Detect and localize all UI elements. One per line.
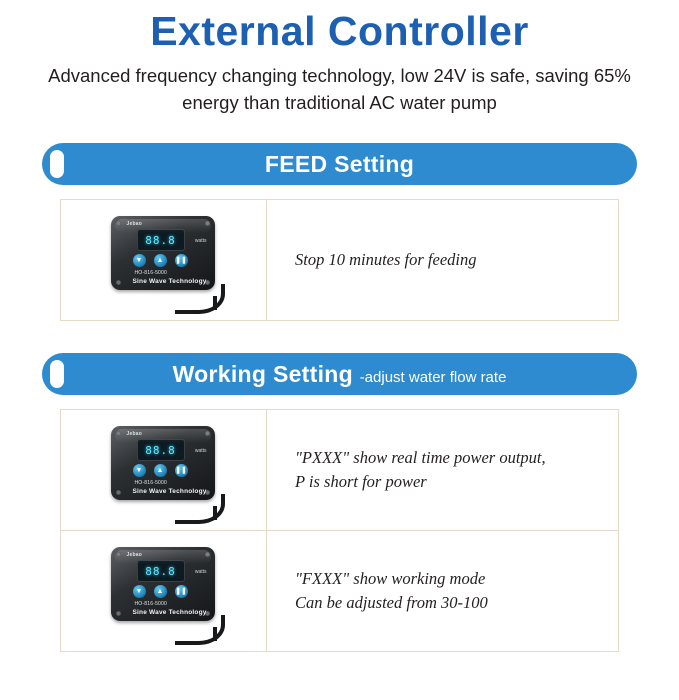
table-row: Jebao 88.8 watts ▼ ▲ ❚❚ HO-816-5000 Sine… (61, 200, 618, 321)
feed-settings-table: Jebao 88.8 watts ▼ ▲ ❚❚ HO-816-5000 Sine… (60, 199, 619, 321)
up-arrow-button-icon[interactable]: ▲ (154, 585, 167, 598)
power-cable (175, 494, 225, 524)
device-brand: Jebao (127, 221, 142, 227)
device-lcd-display: 88.8 (137, 229, 185, 251)
up-arrow-button-icon[interactable]: ▲ (154, 254, 167, 267)
lcd-value: 88.8 (145, 565, 176, 578)
page-subtitle: Advanced frequency changing technology, … (36, 62, 643, 116)
screw-icon (205, 552, 210, 557)
power-cable-end (213, 296, 217, 310)
table-row: Jebao 88.8 watts ▼ ▲ ❚❚ HO-816-5000 Sine… (61, 531, 618, 652)
device-model: HO-816-5000 (135, 270, 168, 276)
controller-image-cell: Jebao 88.8 watts ▼ ▲ ❚❚ HO-816-5000 Sine… (61, 531, 267, 651)
controller-image-cell: Jebao 88.8 watts ▼ ▲ ❚❚ HO-816-5000 Sine… (61, 200, 267, 320)
product-infographic: External Controller Advanced frequency c… (0, 6, 679, 700)
power-cable-end (213, 627, 217, 641)
down-arrow-button-icon[interactable]: ▼ (133, 585, 146, 598)
power-cable (175, 615, 225, 645)
section-banner-feed: FEED Setting (42, 143, 637, 185)
description-line: Stop 10 minutes for feeding (295, 250, 476, 269)
device-brand: Jebao (127, 552, 142, 558)
device-unit-label: watts (195, 448, 207, 454)
banner-cap-icon (50, 150, 64, 178)
screw-icon (116, 490, 121, 495)
power-cable-end (213, 506, 217, 520)
description-cell: "PXXX" show real time power output, P is… (267, 410, 618, 530)
down-arrow-button-icon[interactable]: ▼ (133, 254, 146, 267)
banner-title-feed: FEED Setting (265, 151, 414, 177)
description-cell: Stop 10 minutes for feeding (267, 200, 618, 320)
description-line: "FXXX" show working mode (295, 569, 485, 588)
screw-icon (116, 431, 121, 436)
page-title: External Controller (0, 6, 679, 56)
device-model: HO-816-5000 (135, 601, 168, 607)
controller-device-illustration: Jebao 88.8 watts ▼ ▲ ❚❚ HO-816-5000 Sine… (103, 543, 225, 639)
up-arrow-button-icon[interactable]: ▲ (154, 464, 167, 477)
banner-cap-icon (50, 360, 64, 388)
device-lcd-display: 88.8 (137, 560, 185, 582)
description-line: Can be adjusted from 30-100 (295, 593, 488, 612)
pause-button-icon[interactable]: ❚❚ (175, 254, 188, 267)
power-cable (175, 284, 225, 314)
device-model: HO-816-5000 (135, 480, 168, 486)
description-line: P is short for power (295, 472, 427, 491)
table-row: Jebao 88.8 watts ▼ ▲ ❚❚ HO-816-5000 Sine… (61, 410, 618, 531)
controller-image-cell: Jebao 88.8 watts ▼ ▲ ❚❚ HO-816-5000 Sine… (61, 410, 267, 530)
device-brand: Jebao (127, 431, 142, 437)
down-arrow-button-icon[interactable]: ▼ (133, 464, 146, 477)
screw-icon (116, 552, 121, 557)
controller-device-illustration: Jebao 88.8 watts ▼ ▲ ❚❚ HO-816-5000 Sine… (103, 422, 225, 518)
description-cell: "FXXX" show working mode Can be adjusted… (267, 531, 618, 651)
banner-title-working: Working Setting (173, 361, 353, 387)
screw-icon (205, 431, 210, 436)
lcd-value: 88.8 (145, 444, 176, 457)
device-lcd-display: 88.8 (137, 439, 185, 461)
pause-button-icon[interactable]: ❚❚ (175, 585, 188, 598)
working-settings-table: Jebao 88.8 watts ▼ ▲ ❚❚ HO-816-5000 Sine… (60, 409, 619, 652)
lcd-value: 88.8 (145, 234, 176, 247)
screw-icon (116, 280, 121, 285)
section-banner-working: Working Setting -adjust water flow rate (42, 353, 637, 395)
controller-device-illustration: Jebao 88.8 watts ▼ ▲ ❚❚ HO-816-5000 Sine… (103, 212, 225, 308)
screw-icon (116, 611, 121, 616)
banner-subtitle-working: -adjust water flow rate (360, 369, 507, 386)
description-line: "PXXX" show real time power output, (295, 448, 546, 467)
pause-button-icon[interactable]: ❚❚ (175, 464, 188, 477)
screw-icon (116, 221, 121, 226)
device-unit-label: watts (195, 238, 207, 244)
device-unit-label: watts (195, 569, 207, 575)
screw-icon (205, 221, 210, 226)
